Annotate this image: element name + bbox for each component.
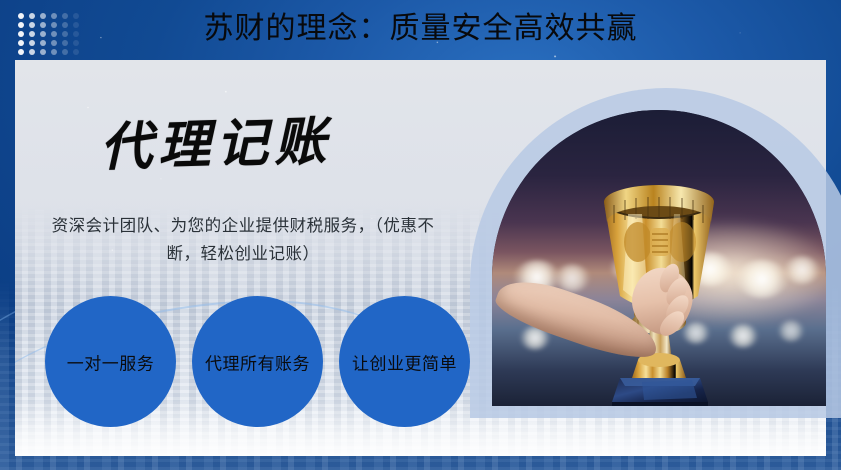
feature-circle-3-label: 让创业更简单	[352, 349, 457, 374]
feature-circle-1-label: 一对一服务	[67, 349, 155, 374]
feature-circle-3[interactable]: 让创业更简单	[339, 296, 470, 427]
header-title: 苏财的理念：质量安全高效共赢	[0, 6, 841, 52]
photo-inner	[492, 110, 826, 406]
slide-header: 苏财的理念：质量安全高效共赢	[0, 0, 841, 60]
trophy-photo	[492, 110, 826, 406]
page-title: 代理记账	[99, 99, 333, 180]
slide-canvas: 苏财的理念：质量安全高效共赢	[0, 0, 841, 470]
feature-circle-2-label: 代理所有账务	[205, 349, 310, 374]
feature-circle-2[interactable]: 代理所有账务	[192, 296, 323, 427]
gold-trophy-icon	[492, 110, 826, 406]
feature-circle-1[interactable]: 一对一服务	[45, 296, 176, 427]
body-description: 资深会计团队、为您的企业提供财税服务，（优惠不断，轻松创业记账）	[48, 212, 438, 268]
